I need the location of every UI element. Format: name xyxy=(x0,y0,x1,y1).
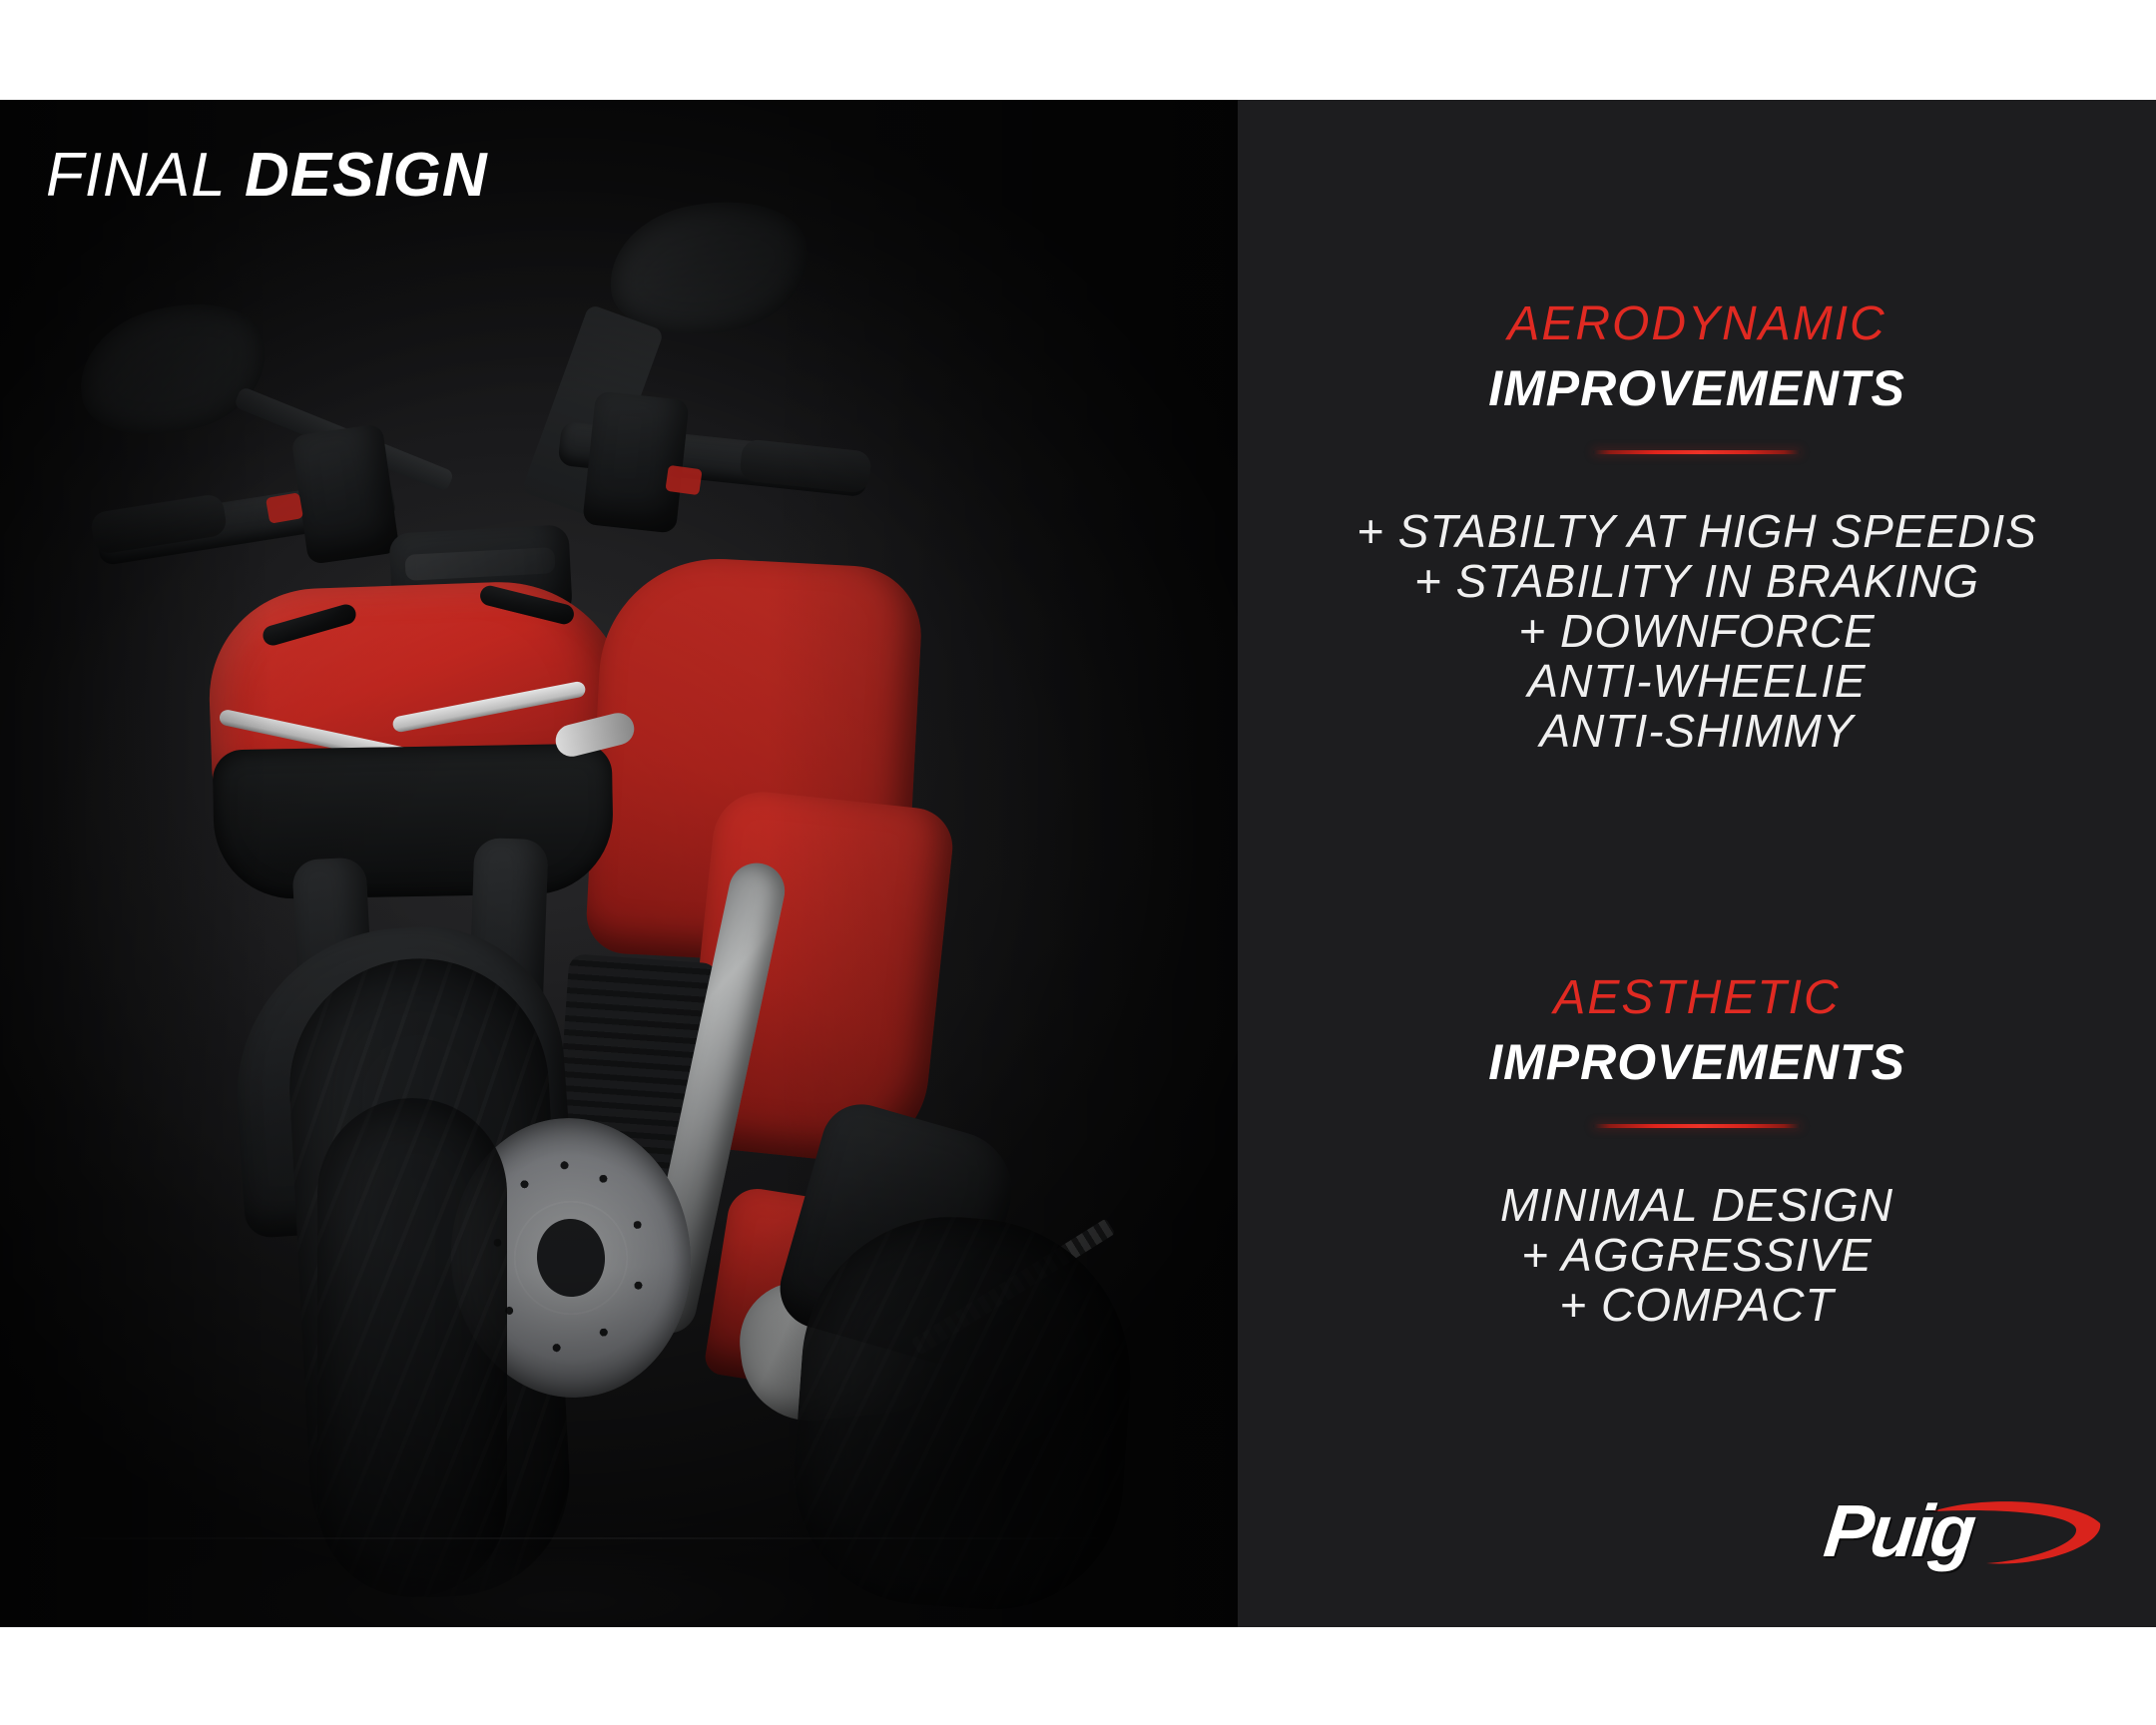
section-headline-aesthetic: IMPROVEMENTS xyxy=(1238,1031,2156,1094)
puig-wordmark: Puig xyxy=(1825,1489,2074,1573)
slide-canvas: FINAL DESIGN xyxy=(0,100,2156,1627)
floor-glow xyxy=(30,1418,1148,1627)
page-title-light: FINAL xyxy=(46,141,227,210)
puig-logo: Puig xyxy=(1825,1487,2104,1583)
puig-wordmark-text: Puig xyxy=(1821,1489,2079,1573)
list-item: ANTI-WHEELIE xyxy=(1238,656,2156,706)
list-item: ANTI-SHIMMY xyxy=(1238,706,2156,756)
page-title: FINAL DESIGN xyxy=(46,140,488,211)
section-aesthetic: AESTHETIC IMPROVEMENTS MINIMAL DESIGN + … xyxy=(1238,973,2156,1330)
body-shadow-overlay xyxy=(0,100,1238,1627)
motorcycle-image xyxy=(0,100,1238,1627)
section-divider-aerodynamic xyxy=(1593,450,1801,454)
section-headline-aerodynamic: IMPROVEMENTS xyxy=(1238,357,2156,420)
section-aerodynamic: AERODYNAMIC IMPROVEMENTS + STABILTY AT H… xyxy=(1238,299,2156,757)
list-item: + COMPACT xyxy=(1238,1280,2156,1330)
list-item: + STABILTY AT HIGH SPEEDIS xyxy=(1238,506,2156,556)
page-title-bold: DESIGN xyxy=(245,141,488,210)
section-kicker-aerodynamic: AERODYNAMIC xyxy=(1238,299,2156,349)
list-item: + AGGRESSIVE xyxy=(1238,1230,2156,1280)
list-item: + DOWNFORCE xyxy=(1238,606,2156,656)
title-space xyxy=(227,141,245,210)
section-list-aerodynamic: + STABILTY AT HIGH SPEEDIS + STABILITY I… xyxy=(1238,506,2156,757)
slide-frame: FINAL DESIGN xyxy=(0,0,2156,1725)
section-list-aesthetic: MINIMAL DESIGN + AGGRESSIVE + COMPACT xyxy=(1238,1180,2156,1330)
list-item: + STABILITY IN BRAKING xyxy=(1238,556,2156,606)
content-column: AERODYNAMIC IMPROVEMENTS + STABILTY AT H… xyxy=(1238,100,2156,1627)
section-divider-aesthetic xyxy=(1593,1124,1801,1128)
list-item: MINIMAL DESIGN xyxy=(1238,1180,2156,1230)
section-kicker-aesthetic: AESTHETIC xyxy=(1238,973,2156,1023)
